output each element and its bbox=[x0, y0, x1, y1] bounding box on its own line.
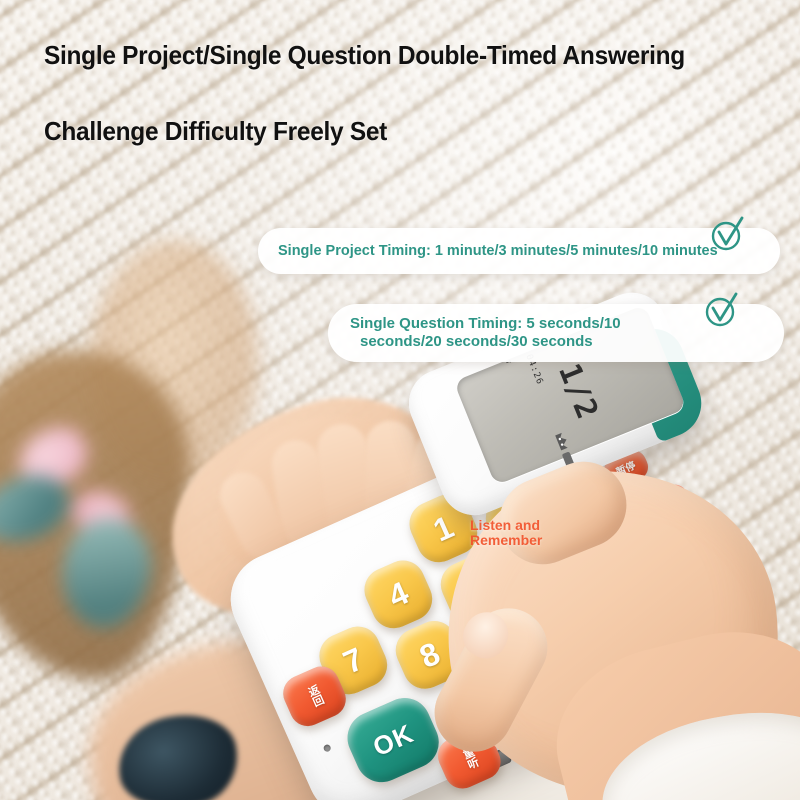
headline-line-2: Challenge Difficulty Freely Set bbox=[44, 116, 387, 147]
feature-pill-text: Single Project Timing: 1 minute/3 minute… bbox=[278, 243, 718, 259]
feature-pill-single-project-timing: Single Project Timing: 1 minute/3 minute… bbox=[258, 228, 780, 274]
microphone-hole bbox=[323, 744, 332, 753]
key-ok[interactable]: OK bbox=[339, 690, 447, 791]
feature-pill-text-line-1: Single Question Timing: 5 seconds/10 bbox=[350, 315, 621, 333]
device-caption: Listen and Remember bbox=[470, 518, 600, 547]
banner-canvas: 1 2 3 4 5 6 7 8 9 0 ✓ OK 返回 重听 听写 bbox=[0, 0, 800, 800]
feature-pill-text-line-2: seconds/20 seconds/30 seconds bbox=[350, 333, 621, 351]
lcd-progress: 1/2 bbox=[551, 359, 605, 425]
check-circle-icon bbox=[706, 212, 750, 256]
check-circle-icon bbox=[700, 288, 744, 332]
headline-line-1: Single Project/Single Question Double-Ti… bbox=[44, 40, 685, 71]
key-back-label: 返回 bbox=[305, 684, 324, 709]
